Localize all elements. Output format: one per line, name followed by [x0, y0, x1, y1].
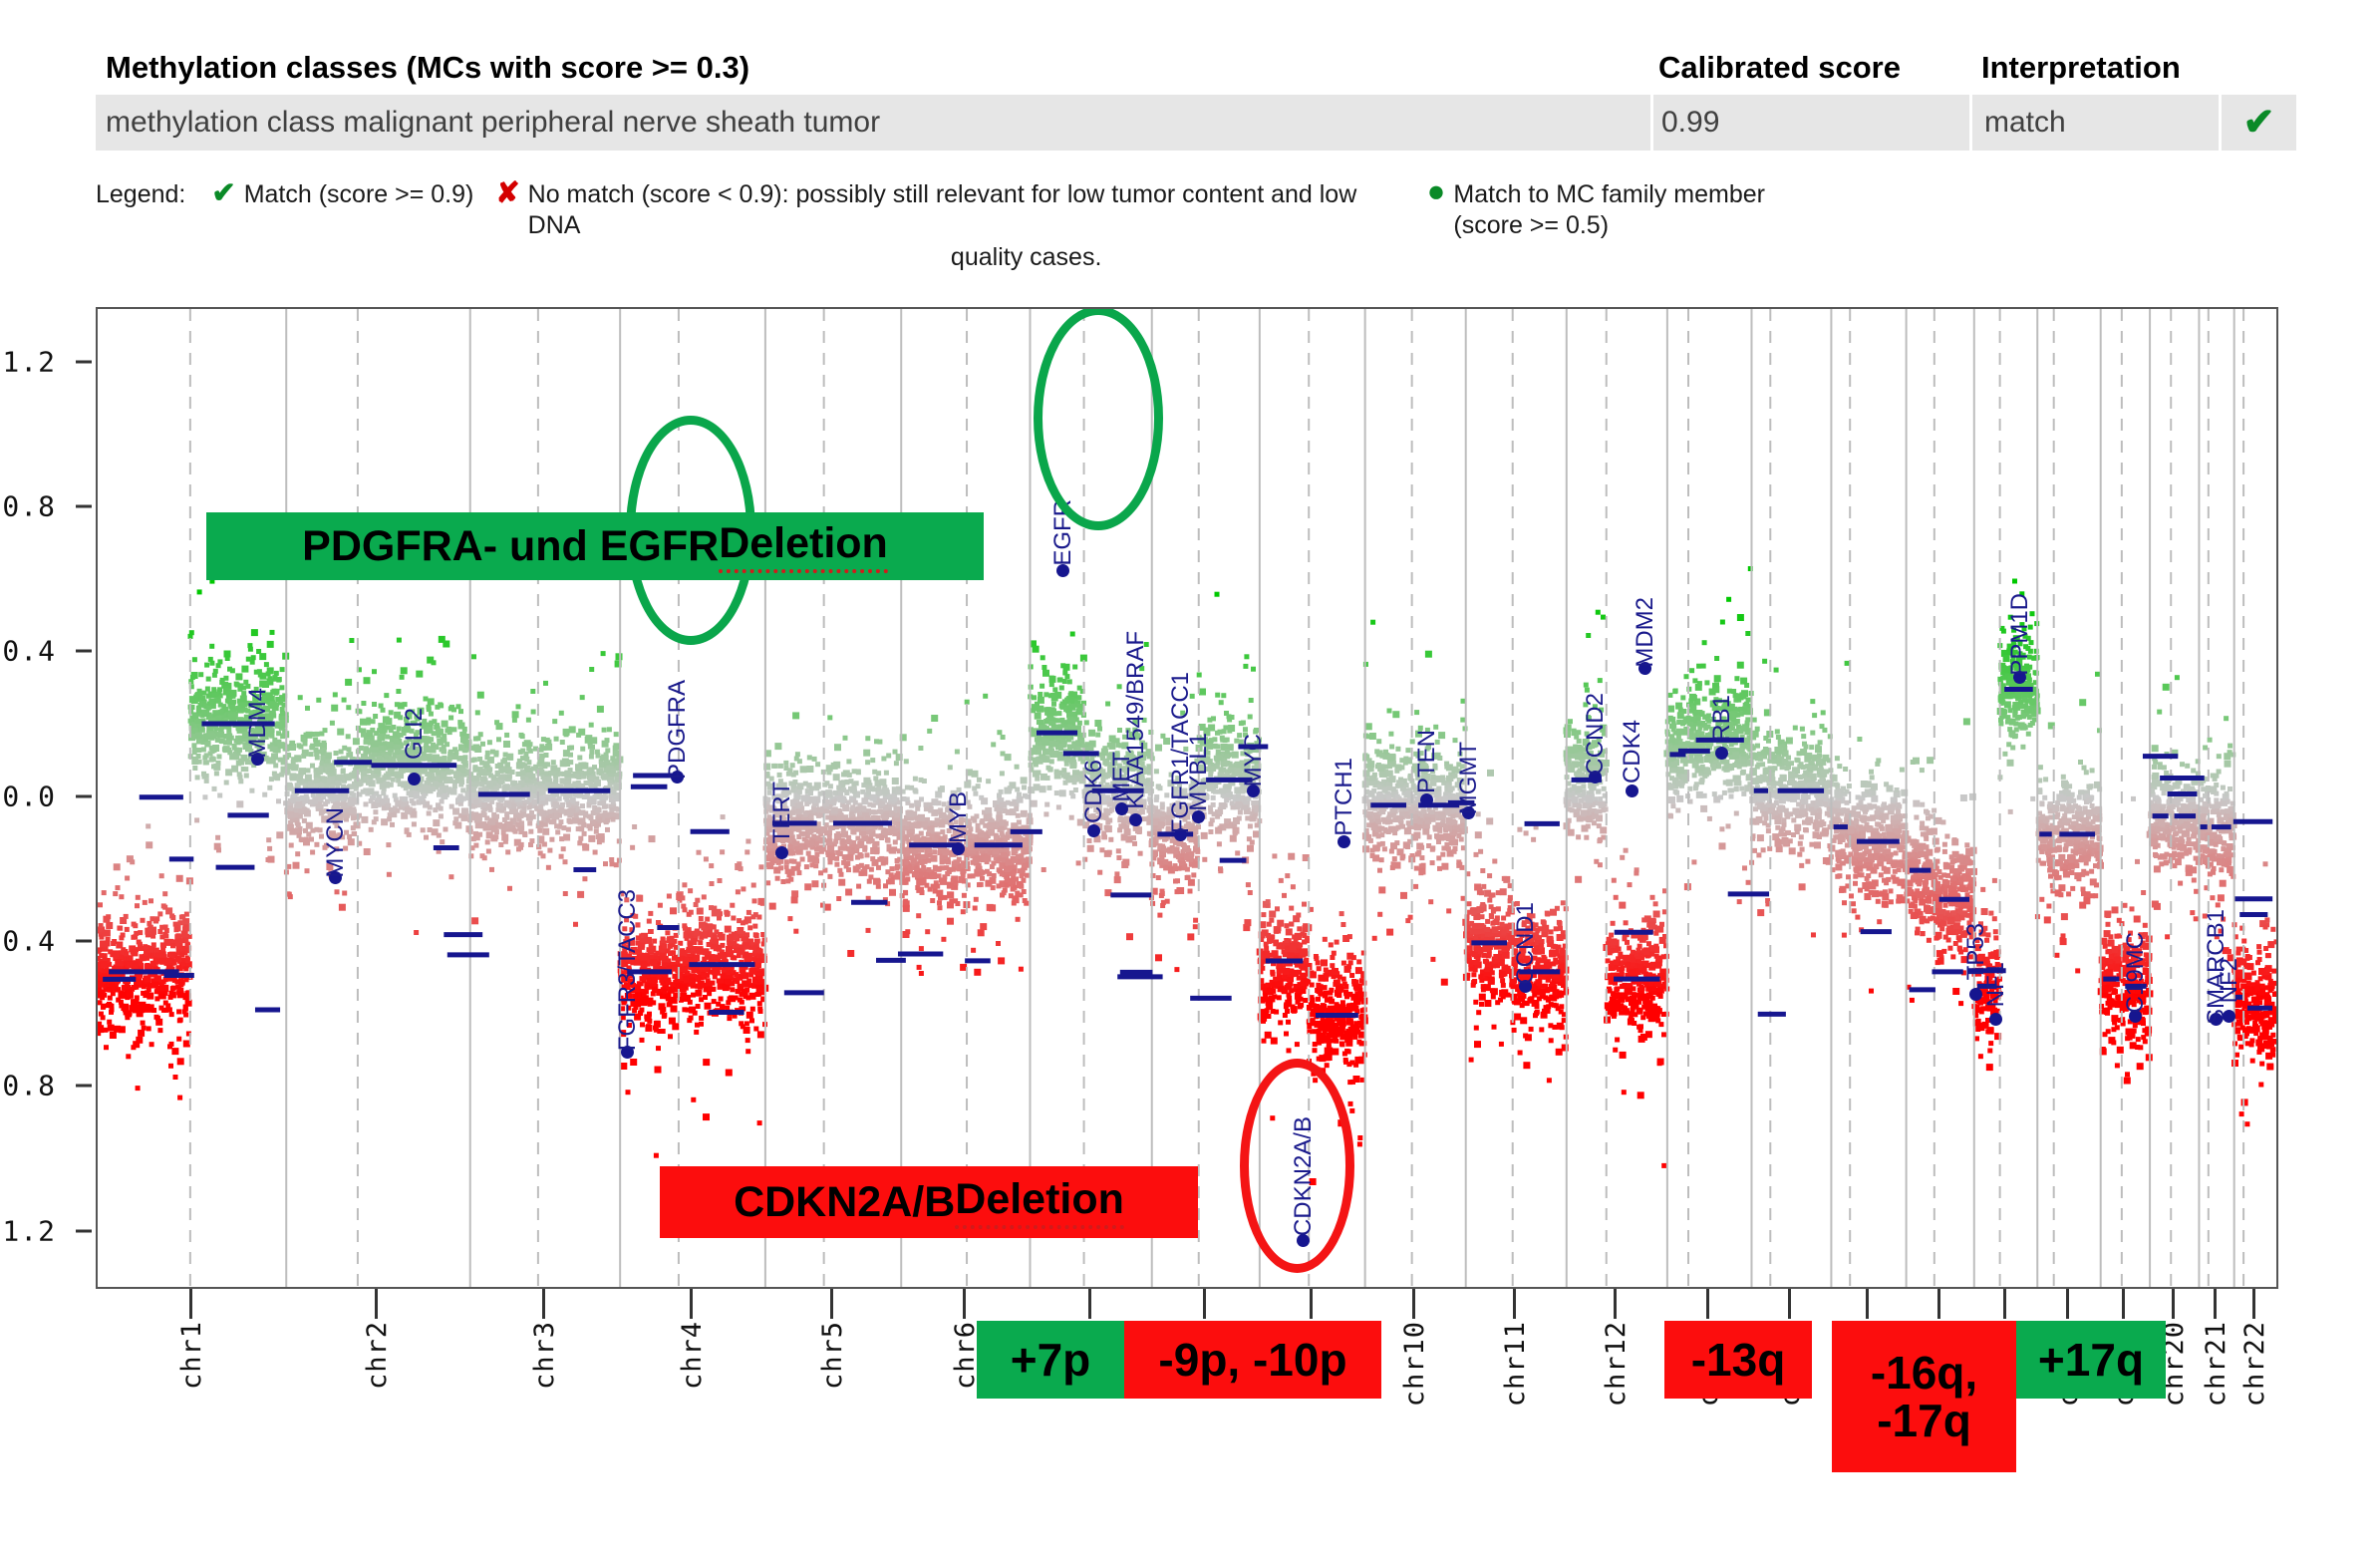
legend-item-family-member-subtext: (score >= 0.5)	[1453, 210, 1765, 241]
x-tick-mark	[1203, 1289, 1206, 1319]
x-tick-mark	[1788, 1289, 1791, 1319]
column-title-interpretation: Interpretation	[1969, 50, 2219, 95]
cna-band--9p---10p: -9p, -10p	[1124, 1321, 1381, 1399]
legend-label: Legend:	[96, 179, 185, 210]
callout-pdgfra-egfr-deletion-text: PDGFRA- und EGFR	[302, 522, 719, 571]
legend-item-match: ✔ Match (score >= 0.9)	[211, 179, 473, 210]
gene-label-TERT: TERT	[768, 782, 796, 843]
gene-marker-dot	[1969, 988, 1982, 1001]
callout-pdgfra-egfr-deletion: PDGFRA- und EGFR Deletion	[206, 512, 984, 580]
y-tick-mark	[76, 650, 92, 653]
green-dot-icon: ●	[1427, 175, 1446, 206]
y-tick-label: 0.8	[2, 489, 56, 522]
cross-icon: ✘	[495, 179, 519, 208]
legend-item-family-member-text: Match to MC family member	[1453, 180, 1765, 208]
calibrated-score-value: 0.99	[1650, 95, 1969, 151]
gene-label-MYCN: MYCN	[322, 807, 350, 878]
gene-marker-dot	[1192, 810, 1205, 823]
cna-band--16q---17q: -16q, -17q	[1832, 1321, 2016, 1472]
x-tick-label-chr1: chr1	[176, 1321, 207, 1390]
y-tick-mark	[76, 360, 92, 363]
x-tick-mark	[1513, 1289, 1516, 1319]
y-tick-label: -0.8	[0, 1070, 56, 1102]
cna-band-+17q: +17q	[2016, 1321, 2166, 1399]
y-tick-label: -0.4	[0, 924, 56, 957]
gene-label-MGMT: MGMT	[1455, 742, 1483, 814]
x-tick-label-chr5: chr5	[817, 1321, 848, 1390]
y-tick-mark	[76, 1085, 92, 1088]
gene-label-PTEN: PTEN	[1413, 730, 1441, 793]
gene-label-MYC: MYC	[1240, 734, 1268, 786]
y-tick-mark	[76, 1229, 92, 1232]
x-tick-mark	[1937, 1289, 1940, 1319]
x-tick-mark	[963, 1289, 966, 1319]
header-column-titles: Methylation classes (MCs with score >= 0…	[96, 50, 2296, 95]
legend-item-no-match-subtext: quality cases.	[528, 242, 1405, 273]
callout-cdkn2a-deletion: CDKN2A/B Deletion	[660, 1166, 1198, 1238]
x-tick-mark	[2066, 1289, 2069, 1319]
column-title-calibrated-score: Calibrated score	[1650, 50, 1969, 95]
check-icon: ✔	[211, 179, 235, 208]
x-tick-label-chr12: chr12	[1601, 1321, 1632, 1407]
gene-label-C19MC: C19MC	[2122, 932, 2150, 1013]
y-tick-mark	[76, 794, 92, 797]
gene-label-RB1: RB1	[1708, 695, 1736, 742]
x-tick-mark	[2252, 1289, 2255, 1319]
x-tick-mark	[2003, 1289, 2006, 1319]
x-tick-label-chr21: chr21	[2201, 1321, 2231, 1407]
gene-label-CDK6: CDK6	[1080, 760, 1108, 823]
gene-label-CCND2: CCND2	[1582, 693, 1610, 776]
y-tick-label: -1.2	[0, 1214, 56, 1247]
x-tick-mark	[189, 1289, 192, 1319]
gene-label-PDGFRA: PDGFRA	[664, 680, 692, 780]
x-tick-label-chr22: chr22	[2239, 1321, 2270, 1407]
x-tick-mark	[1412, 1289, 1415, 1319]
legend-item-match-text: Match (score >= 0.9)	[244, 179, 474, 210]
legend: Legend: ✔ Match (score >= 0.9) ✘ No matc…	[96, 179, 2298, 273]
methylation-report-header: Methylation classes (MCs with score >= 0…	[96, 50, 2296, 151]
methylation-class-row: methylation class malignant peripheral n…	[96, 95, 2296, 151]
gene-marker-dot	[408, 773, 421, 785]
legend-item-family-member: ● Match to MC family member (score >= 0.…	[1427, 179, 1765, 242]
gene-marker-dot	[1129, 813, 1142, 826]
legend-item-no-match-text: No match (score < 0.9): possibly still r…	[528, 180, 1357, 239]
y-tick-label: 0.4	[2, 635, 56, 668]
x-tick-label-chr2: chr2	[362, 1321, 393, 1390]
cdkn2a-ellipse	[1240, 1059, 1354, 1273]
x-tick-mark	[542, 1289, 545, 1319]
cna-band--13q: -13q	[1664, 1321, 1812, 1399]
match-check-icon: ✔	[2219, 95, 2296, 151]
cna-band-+7p: +7p	[977, 1321, 1124, 1399]
x-tick-label-chr11: chr11	[1500, 1321, 1531, 1407]
plot-canvas: MDM4MYCNGLI2FGFR3/TACC3PDGFRATERTMYBEGFR…	[98, 309, 2276, 1287]
gene-label-MDM2: MDM2	[1632, 597, 1659, 668]
column-title-status	[2219, 86, 2296, 95]
x-tick-mark	[2214, 1289, 2217, 1319]
gene-label-KIAA1549-BRAF: KIAA1549/BRAF	[1122, 631, 1150, 809]
x-tick-label-chr10: chr10	[1399, 1321, 1430, 1407]
gene-label-MYB: MYB	[945, 791, 973, 843]
x-tick-mark	[375, 1289, 378, 1319]
legend-item-no-match: ✘ No match (score < 0.9): possibly still…	[495, 179, 1404, 273]
x-tick-mark	[1866, 1289, 1869, 1319]
x-tick-mark	[1088, 1289, 1091, 1319]
x-tick-mark	[830, 1289, 833, 1319]
gene-label-GLI2: GLI2	[401, 708, 429, 760]
y-tick-label: 1.2	[2, 345, 56, 378]
y-axis: 1.20.80.40.0-0.4-0.8-1.2	[0, 307, 90, 1289]
x-tick-mark	[1614, 1289, 1617, 1319]
callout-pdgfra-egfr-deletion-spellcheck-word: Deletion	[719, 519, 888, 573]
gene-label-PTCH1: PTCH1	[1331, 758, 1358, 836]
gene-label-NF2: NF2	[2216, 958, 2243, 1003]
x-tick-mark	[690, 1289, 693, 1319]
gene-label-CDK4: CDK4	[1619, 720, 1646, 783]
gene-label-MYBL1: MYBL1	[1185, 733, 1213, 811]
x-tick-mark	[2122, 1289, 2125, 1319]
y-tick-label: 0.0	[2, 780, 56, 812]
methylation-class-name: methylation class malignant peripheral n…	[96, 95, 1650, 151]
gene-marker-dot	[1715, 747, 1728, 760]
gene-marker-dot	[2223, 1010, 2235, 1023]
interpretation-value: match	[1969, 95, 2219, 151]
callout-cdkn2a-deletion-spellcheck-word: Deletion	[955, 1175, 1124, 1229]
gene-label-MDM4: MDM4	[244, 688, 272, 759]
x-tick-mark	[1310, 1289, 1313, 1319]
gene-label-CCND1: CCND1	[1512, 902, 1540, 985]
copy-number-plot: MDM4MYCNGLI2FGFR3/TACC3PDGFRATERTMYBEGFR…	[96, 307, 2278, 1289]
x-tick-label-chr3: chr3	[529, 1321, 560, 1390]
column-title-methylation-classes: Methylation classes (MCs with score >= 0…	[96, 50, 1650, 95]
y-tick-mark	[76, 504, 92, 507]
gene-label-PPM1D: PPM1D	[2006, 593, 2034, 676]
callout-cdkn2a-deletion-text: CDKN2A/B	[734, 1178, 955, 1227]
x-tick-label-chr4: chr4	[677, 1321, 708, 1390]
gene-label-FGFR3-TACC3: FGFR3/TACC3	[614, 889, 642, 1051]
gene-label-NF1: NF1	[1982, 962, 2010, 1007]
x-tick-mark	[2172, 1289, 2175, 1319]
x-tick-mark	[1706, 1289, 1709, 1319]
egfr-ellipse	[1034, 307, 1163, 530]
y-tick-mark	[76, 939, 92, 942]
